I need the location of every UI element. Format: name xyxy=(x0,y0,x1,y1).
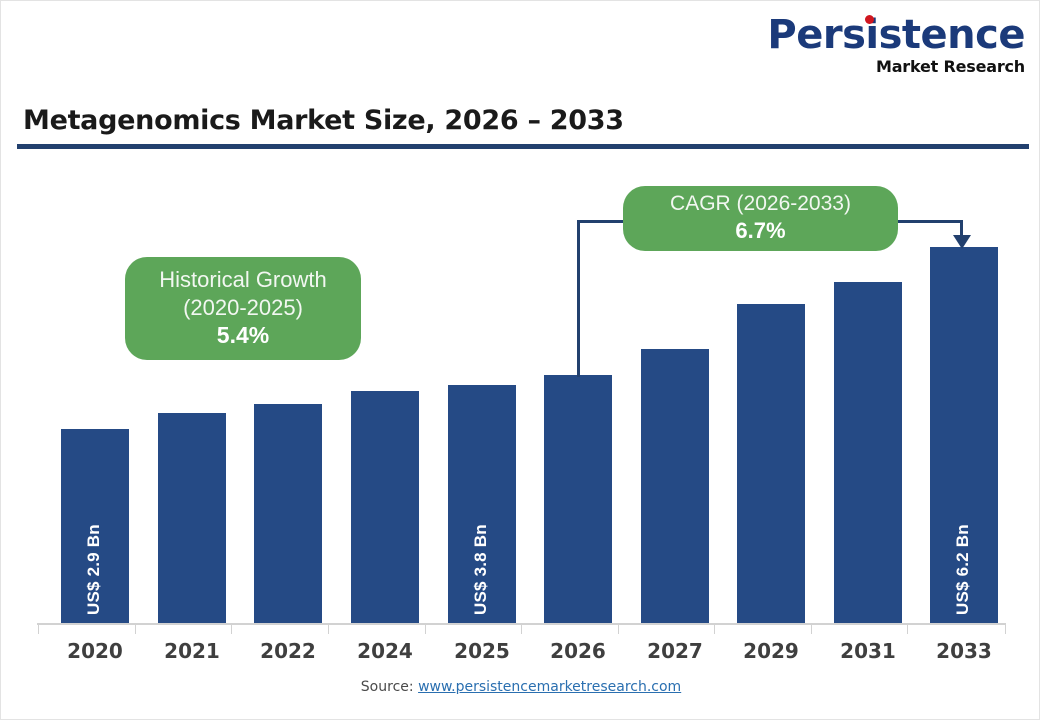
x-label-2026: 2026 xyxy=(544,639,612,663)
cagr-connector-vertical-left xyxy=(577,220,580,377)
x-label-2033: 2033 xyxy=(930,639,998,663)
bar-2029 xyxy=(737,304,805,623)
source-label: Source: xyxy=(361,679,414,695)
historical-growth-callout: Historical Growth (2020-2025) 5.4% xyxy=(125,257,361,360)
x-label-2031: 2031 xyxy=(834,639,902,663)
x-tick-2021 xyxy=(135,623,136,634)
bar-value-label-2033: US$ 6.2 Bn xyxy=(953,524,973,615)
x-label-2025: 2025 xyxy=(448,639,516,663)
cagr-callout: CAGR (2026-2033) 6.7% xyxy=(623,186,898,251)
x-label-2027: 2027 xyxy=(641,639,709,663)
bar-2022 xyxy=(254,404,322,623)
bar-value-label-2025: US$ 3.8 Bn xyxy=(471,524,491,615)
bar-2027 xyxy=(641,349,709,623)
cagr-value: 6.7% xyxy=(735,217,785,246)
x-label-2029: 2029 xyxy=(737,639,805,663)
bar-2031 xyxy=(834,282,902,623)
x-tick-2031 xyxy=(811,623,812,634)
bar-value-label-2020: US$ 2.9 Bn xyxy=(84,524,104,615)
x-label-2021: 2021 xyxy=(158,639,226,663)
x-tick-2025 xyxy=(425,623,426,634)
x-label-2024: 2024 xyxy=(351,639,419,663)
source-link[interactable]: www.persistencemarketresearch.com xyxy=(418,679,681,695)
x-tick-2020 xyxy=(38,623,39,634)
x-tick-end xyxy=(1005,623,1006,634)
x-tick-2026 xyxy=(521,623,522,634)
x-tick-2033 xyxy=(907,623,908,634)
bar-2021 xyxy=(158,413,226,623)
cagr-arrowhead-icon xyxy=(953,235,971,249)
x-tick-2027 xyxy=(618,623,619,634)
historical-growth-value: 5.4% xyxy=(217,321,269,351)
cagr-title: CAGR (2026-2033) xyxy=(670,191,851,217)
chart-page: Persistence Market Research Metagenomics… xyxy=(0,0,1040,720)
chart-plot-area: US$ 2.9 BnUS$ 3.8 BnUS$ 6.2 Bn 202020212… xyxy=(1,1,1040,720)
x-tick-2029 xyxy=(714,623,715,634)
source-footer: Source: www.persistencemarketresearch.co… xyxy=(1,679,1040,695)
historical-growth-period: (2020-2025) xyxy=(183,294,303,322)
x-tick-2024 xyxy=(328,623,329,634)
bar-2026 xyxy=(544,375,612,623)
x-label-2022: 2022 xyxy=(254,639,322,663)
bar-2024 xyxy=(351,391,419,623)
x-tick-2022 xyxy=(231,623,232,634)
x-label-2020: 2020 xyxy=(61,639,129,663)
historical-growth-title: Historical Growth xyxy=(159,266,326,294)
